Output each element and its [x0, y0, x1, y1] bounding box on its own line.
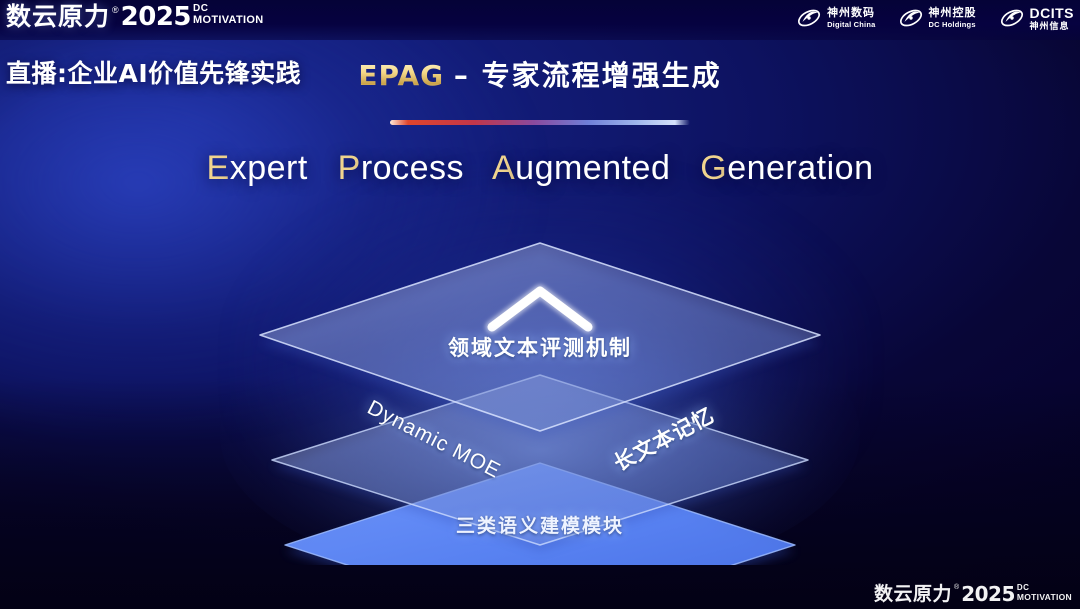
registered-mark: ® — [112, 3, 119, 17]
logo-name-en: Digital China — [827, 21, 875, 29]
logo-dc-holdings: 神州控股 DC Holdings — [898, 5, 977, 31]
logo-text-dcits: DCITS 神州信息 — [1030, 6, 1075, 31]
live-headline: 直播:企业AI价值先锋实践 — [6, 54, 301, 90]
logo-text-digital-china: 神州数码 Digital China — [827, 8, 875, 29]
title-divider — [390, 120, 690, 125]
swoosh-icon — [999, 5, 1025, 31]
subtitle-rest-process: rocess — [361, 149, 464, 187]
logo-name-cn: 神州数码 — [827, 8, 875, 19]
subtitle-word-generation: Generation — [700, 149, 873, 187]
subtitle-space-1 — [318, 149, 328, 187]
subtitle-rest-augmented: ugmented — [515, 149, 670, 187]
partner-logo-group: 神州数码 Digital China 神州控股 DC Holdings — [796, 5, 1074, 31]
brand-year: 2025 — [121, 3, 191, 31]
brand-dc-text: DC — [193, 4, 263, 14]
brand-motivation-text: MOTIVATION — [193, 15, 263, 26]
watermark-dc-motivation: DC MOTIVATION — [1017, 584, 1072, 602]
watermark-year: 2025 — [961, 583, 1015, 605]
swoosh-icon — [796, 5, 822, 31]
logo-text-dc-holdings: 神州控股 DC Holdings — [929, 8, 977, 29]
subtitle-cap-p: P — [338, 149, 361, 187]
subtitle-rest-generation: eneration — [727, 149, 873, 187]
subtitle-rest-expert: xpert — [230, 149, 308, 187]
watermark-name-cn: 数云原力 — [874, 583, 952, 605]
slide-canvas: 数云原力 ® 2025 DC MOTIVATION 直播:企业AI价值先锋实践 … — [0, 0, 1080, 609]
diagram-label-top: 领域文本评测机制 — [0, 332, 1080, 362]
subtitle-cap-a: A — [492, 149, 515, 187]
brand-name-cn: 数云原力 — [6, 3, 110, 31]
swoosh-icon — [898, 5, 924, 31]
subtitle-space-2 — [474, 149, 484, 187]
subtitle-cap-g: G — [700, 149, 727, 187]
logo-name-en: DC Holdings — [929, 21, 977, 29]
subtitle-word-expert: Expert — [207, 149, 308, 187]
logo-name-en: 神州信息 — [1030, 22, 1075, 31]
subtitle-cap-e: E — [207, 149, 230, 187]
subtitle-expansion: Expert Process Augmented Generation — [0, 149, 1080, 188]
subtitle-space-3 — [680, 149, 690, 187]
diagram-label-bottom: 三类语义建模模块 — [0, 511, 1080, 538]
subtitle-word-process: Process — [338, 149, 464, 187]
page-title-acronym: EPAG — [358, 59, 444, 92]
watermark-reg-mark: ® — [954, 583, 959, 593]
page-title-cn: – 专家流程增强生成 — [454, 59, 722, 92]
logo-digital-china: 神州数码 Digital China — [796, 5, 875, 31]
brand-watermark-bottom-right: 数云原力 ® 2025 DC MOTIVATION — [874, 583, 1072, 605]
logo-name-cn: 神州控股 — [929, 8, 977, 19]
logo-dcits: DCITS 神州信息 — [999, 5, 1075, 31]
watermark-motivation-text: MOTIVATION — [1017, 593, 1072, 602]
brand-logo-top-left: 数云原力 ® 2025 DC MOTIVATION — [6, 3, 263, 31]
watermark-dc-text: DC — [1017, 584, 1072, 592]
subtitle-word-augmented: Augmented — [492, 149, 670, 187]
brand-dc-motivation: DC MOTIVATION — [193, 4, 263, 26]
logo-name-cn: DCITS — [1030, 6, 1075, 20]
